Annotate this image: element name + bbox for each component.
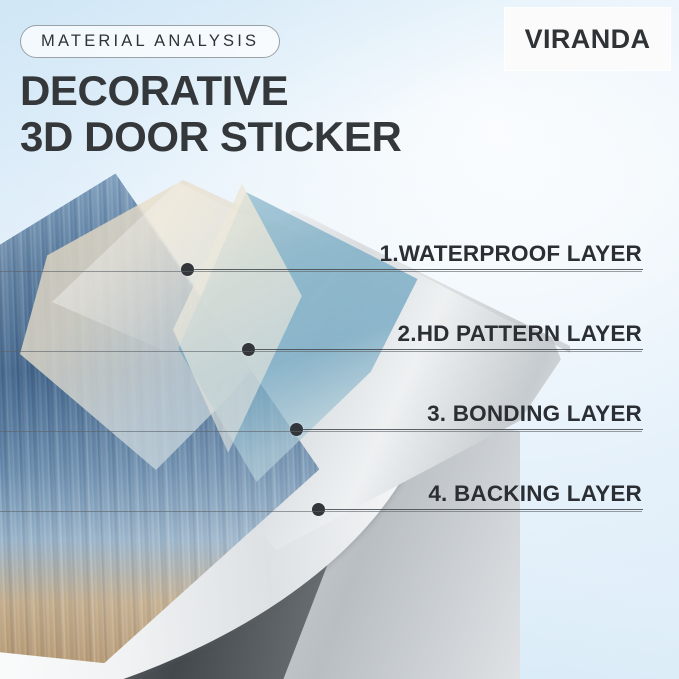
infographic-canvas: MATERIAL ANALYSIS DECORATIVE 3D DOOR STI… [0,0,679,679]
layer-label-hd-pattern: 2.HD PATTERN LAYER [398,321,642,347]
callout-line-backing [324,509,643,510]
callout-line-waterproof [193,269,643,270]
layer-label-waterproof: 1.WATERPROOF LAYER [380,241,642,267]
layer-underline-hd-pattern [0,351,642,352]
layer-label-bonding: 3. BONDING LAYER [427,401,642,427]
callout-line-hd-pattern [254,349,643,350]
callout-group: 1.WATERPROOF LAYER 2.HD PATTERN LAYER 3.… [0,0,679,679]
layer-underline-waterproof [0,271,642,272]
layer-underline-backing [0,511,642,512]
callout-line-bonding [302,429,643,430]
layer-underline-bonding [0,431,642,432]
layer-label-backing: 4. BACKING LAYER [428,481,642,507]
